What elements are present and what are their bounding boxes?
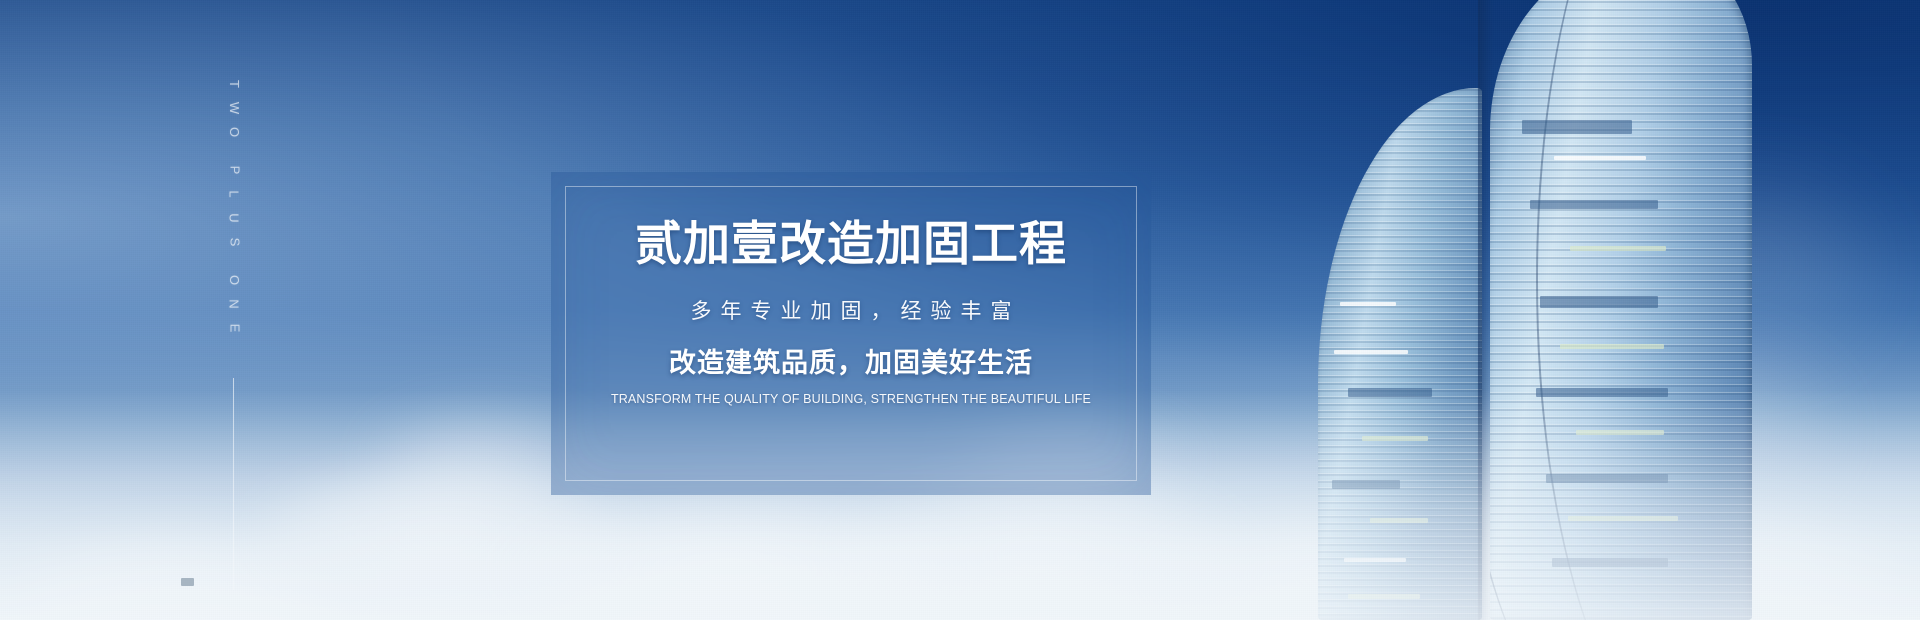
brand-letter: U: [222, 213, 246, 222]
brand-letter: E: [222, 324, 246, 333]
brand-letter: T: [222, 80, 246, 88]
vertical-divider-line: [233, 378, 234, 590]
brand-letter: L: [222, 190, 246, 197]
tagline-english: TRANSFORM THE QUALITY OF BUILDING, STREN…: [611, 391, 1091, 407]
hero-text-panel: 贰加壹改造加固工程 多年专业加固，经验丰富 改造建筑品质，加固美好生活 TRAN…: [551, 172, 1151, 495]
brand-letter: O: [222, 127, 246, 137]
brand-letter: S: [222, 238, 246, 247]
brand-letter: W: [222, 102, 246, 114]
panel-content: 贰加壹改造加固工程 多年专业加固，经验丰富 改造建筑品质，加固美好生活 TRAN…: [551, 172, 1151, 495]
vertical-brand-text: T W O P L U S O N E: [225, 72, 243, 340]
hero-banner: T W O P L U S O N E 贰加壹改造加固工程 多年专业加固，经验丰…: [0, 0, 1920, 620]
brand-letter: P: [222, 166, 246, 175]
corner-mark: [181, 578, 194, 586]
brand-letter: N: [222, 299, 246, 308]
tagline: 改造建筑品质，加固美好生活: [669, 347, 1033, 381]
subheadline: 多年专业加固，经验丰富: [682, 298, 1021, 325]
headline: 贰加壹改造加固工程: [635, 218, 1067, 271]
brand-letter: O: [222, 275, 246, 285]
